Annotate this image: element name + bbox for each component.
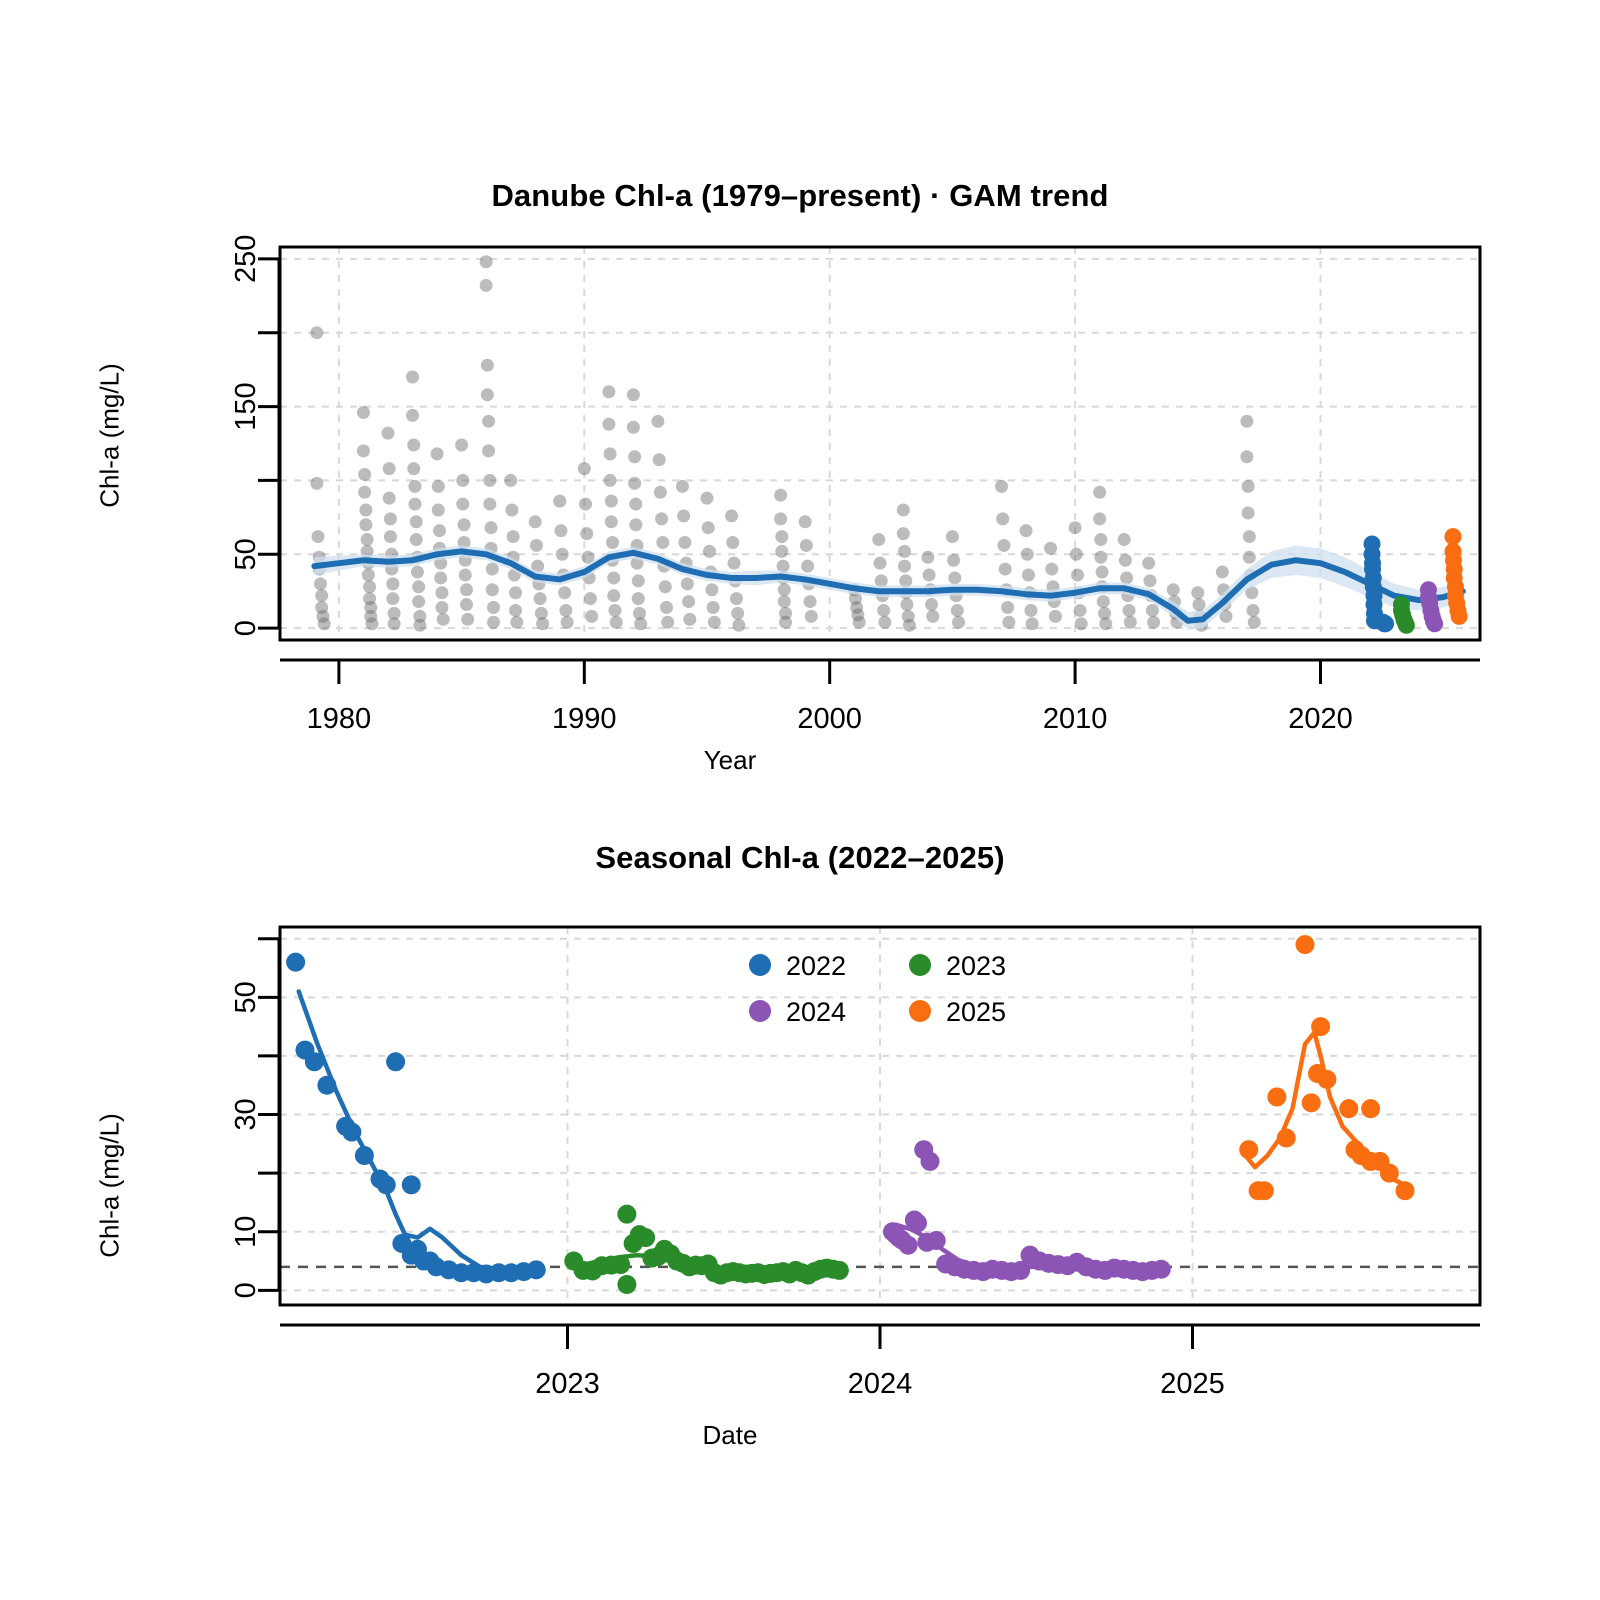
data-point bbox=[483, 498, 496, 511]
data-point bbox=[997, 539, 1010, 552]
data-point bbox=[310, 477, 323, 490]
data-point bbox=[312, 530, 325, 543]
data-point bbox=[1339, 1099, 1358, 1118]
data-point bbox=[1248, 616, 1261, 629]
data-point bbox=[921, 551, 934, 564]
data-point bbox=[632, 592, 645, 605]
data-point bbox=[900, 598, 913, 611]
data-point bbox=[703, 545, 716, 558]
data-point bbox=[878, 616, 891, 629]
data-point bbox=[580, 527, 593, 540]
data-point bbox=[799, 515, 812, 528]
series-points-2025-recent bbox=[1445, 528, 1468, 625]
data-point bbox=[362, 568, 375, 581]
data-point bbox=[604, 474, 617, 487]
data-point bbox=[732, 619, 745, 632]
legend-label-2024: 2024 bbox=[786, 997, 846, 1027]
data-point bbox=[996, 512, 1009, 525]
data-point bbox=[779, 616, 792, 629]
data-point bbox=[384, 530, 397, 543]
data-point bbox=[608, 604, 621, 617]
data-point bbox=[661, 616, 674, 629]
data-point bbox=[1451, 608, 1468, 625]
data-point bbox=[1167, 583, 1180, 596]
data-point bbox=[1124, 616, 1137, 629]
data-point bbox=[1142, 557, 1155, 570]
data-point bbox=[1099, 617, 1112, 630]
data-point bbox=[579, 498, 592, 511]
data-point bbox=[1247, 604, 1260, 617]
data-point bbox=[1070, 548, 1083, 561]
data-point bbox=[386, 1052, 405, 1071]
data-point bbox=[1398, 617, 1415, 634]
data-point bbox=[678, 536, 691, 549]
data-point bbox=[435, 586, 448, 599]
data-point bbox=[708, 616, 721, 629]
y-tick-label: 250 bbox=[230, 235, 262, 283]
data-point bbox=[1044, 542, 1057, 555]
y-tick-label: 0 bbox=[230, 620, 262, 636]
data-point bbox=[408, 480, 421, 493]
data-point bbox=[388, 617, 401, 630]
data-point bbox=[437, 613, 450, 626]
data-point bbox=[1147, 616, 1160, 629]
data-point bbox=[1071, 568, 1084, 581]
data-point bbox=[315, 589, 328, 602]
data-point bbox=[363, 580, 376, 593]
data-point bbox=[1377, 615, 1394, 632]
data-point bbox=[509, 586, 522, 599]
data-point bbox=[731, 607, 744, 620]
data-point bbox=[629, 498, 642, 511]
data-point bbox=[627, 388, 640, 401]
data-point bbox=[1255, 1181, 1274, 1200]
data-point bbox=[483, 474, 496, 487]
data-point bbox=[1049, 610, 1062, 623]
data-point bbox=[1069, 521, 1082, 534]
data-point bbox=[778, 583, 791, 596]
legend-label-2023: 2023 bbox=[946, 951, 1006, 981]
panel-gam-trend: Danube Chl-a (1979–present) · GAM trend … bbox=[0, 0, 1600, 800]
data-point bbox=[480, 255, 493, 268]
data-point bbox=[707, 601, 720, 614]
data-point bbox=[617, 1275, 636, 1294]
x-tick-label: 2025 bbox=[1160, 1368, 1225, 1400]
series-points-2024 bbox=[883, 1140, 1171, 1281]
data-point bbox=[1022, 568, 1035, 581]
data-point bbox=[1024, 604, 1037, 617]
data-point bbox=[458, 518, 471, 531]
data-point bbox=[628, 477, 641, 490]
data-point bbox=[504, 474, 517, 487]
data-point bbox=[359, 503, 372, 516]
data-point bbox=[951, 604, 964, 617]
data-point bbox=[460, 598, 473, 611]
data-point bbox=[1361, 1099, 1380, 1118]
data-point bbox=[681, 577, 694, 590]
data-point bbox=[384, 512, 397, 525]
data-point bbox=[605, 515, 618, 528]
data-point bbox=[486, 583, 499, 596]
data-point bbox=[1296, 935, 1315, 954]
data-point bbox=[874, 557, 887, 570]
data-point bbox=[1119, 554, 1132, 567]
data-point bbox=[634, 617, 647, 630]
y-tick-label: 30 bbox=[230, 1098, 262, 1130]
data-point bbox=[411, 566, 424, 579]
legend-label-2025: 2025 bbox=[946, 997, 1006, 1027]
data-point bbox=[1123, 604, 1136, 617]
data-point bbox=[897, 503, 910, 516]
data-point bbox=[903, 619, 916, 632]
data-point bbox=[948, 571, 961, 584]
data-point bbox=[656, 536, 669, 549]
data-point bbox=[1445, 528, 1462, 545]
legend-marker-2025 bbox=[909, 1000, 931, 1022]
data-point bbox=[1002, 616, 1015, 629]
data-point bbox=[480, 279, 493, 292]
y-tick-label: 50 bbox=[230, 981, 262, 1013]
data-point bbox=[314, 577, 327, 590]
plot-area-bottom: 01030502023202420252022202320242025 bbox=[0, 800, 1600, 1600]
x-tick-label: 2020 bbox=[1288, 703, 1353, 735]
y-tick-label: 10 bbox=[230, 1216, 262, 1248]
data-point bbox=[705, 583, 718, 596]
data-point bbox=[553, 495, 566, 508]
data-point bbox=[359, 518, 372, 531]
data-point bbox=[1143, 574, 1156, 587]
data-point bbox=[381, 427, 394, 440]
data-point bbox=[607, 571, 620, 584]
data-point bbox=[683, 613, 696, 626]
y-tick-label: 0 bbox=[230, 1282, 262, 1298]
data-point bbox=[605, 495, 618, 508]
data-point bbox=[554, 524, 567, 537]
data-point bbox=[725, 509, 738, 522]
data-point bbox=[383, 462, 396, 475]
data-point bbox=[898, 545, 911, 558]
data-point bbox=[682, 595, 695, 608]
data-point bbox=[774, 512, 787, 525]
legend: 2022202320242025 bbox=[749, 951, 1006, 1027]
data-point bbox=[530, 539, 543, 552]
data-point bbox=[1074, 604, 1087, 617]
data-point bbox=[775, 530, 788, 543]
data-point bbox=[1020, 524, 1033, 537]
y-tick-label: 50 bbox=[230, 538, 262, 570]
data-point bbox=[653, 453, 666, 466]
data-point bbox=[947, 554, 960, 567]
panel-seasonal: Seasonal Chl-a (2022–2025) Chl-a (mg/L) … bbox=[0, 800, 1600, 1600]
data-point bbox=[410, 515, 423, 528]
data-point bbox=[628, 450, 641, 463]
data-point bbox=[775, 545, 788, 558]
data-point bbox=[1094, 551, 1107, 564]
data-point bbox=[460, 583, 473, 596]
data-point bbox=[435, 601, 448, 614]
data-point bbox=[487, 601, 500, 614]
data-point bbox=[1191, 586, 1204, 599]
data-point bbox=[406, 371, 419, 384]
data-point bbox=[801, 560, 814, 573]
data-point bbox=[654, 486, 667, 499]
data-point bbox=[410, 533, 423, 546]
data-point bbox=[431, 447, 444, 460]
legend-label-2022: 2022 bbox=[786, 951, 846, 981]
data-point bbox=[898, 560, 911, 573]
series-points-2023 bbox=[564, 1205, 849, 1294]
data-point bbox=[1146, 604, 1159, 617]
data-point bbox=[774, 489, 787, 502]
data-point bbox=[727, 557, 740, 570]
data-point bbox=[610, 616, 623, 629]
data-point bbox=[800, 539, 813, 552]
data-point bbox=[1045, 563, 1058, 576]
data-point bbox=[1242, 480, 1255, 493]
legend-marker-2023 bbox=[909, 954, 931, 976]
data-point bbox=[805, 610, 818, 623]
data-point bbox=[1242, 506, 1255, 519]
data-point bbox=[1097, 595, 1110, 608]
data-point bbox=[1426, 615, 1443, 632]
data-point bbox=[925, 598, 938, 611]
data-point bbox=[921, 1152, 940, 1171]
data-point bbox=[1243, 551, 1256, 564]
data-point bbox=[461, 613, 474, 626]
data-point bbox=[1216, 566, 1229, 579]
trend-line bbox=[299, 991, 537, 1270]
data-point bbox=[402, 1175, 421, 1194]
data-point bbox=[432, 503, 445, 516]
data-point bbox=[584, 592, 597, 605]
data-point bbox=[1193, 598, 1206, 611]
data-point bbox=[778, 595, 791, 608]
data-point bbox=[559, 604, 572, 617]
data-point bbox=[926, 610, 939, 623]
data-point bbox=[602, 385, 615, 398]
data-point bbox=[386, 577, 399, 590]
data-point bbox=[632, 574, 645, 587]
data-point bbox=[606, 536, 619, 549]
data-point bbox=[677, 509, 690, 522]
x-tick-label: 2023 bbox=[535, 1368, 600, 1400]
data-point bbox=[408, 498, 421, 511]
data-point bbox=[406, 409, 419, 422]
data-point bbox=[455, 438, 468, 451]
data-point bbox=[604, 447, 617, 460]
data-point bbox=[726, 536, 739, 549]
figure-root: Danube Chl-a (1979–present) · GAM trend … bbox=[0, 0, 1600, 1600]
data-point bbox=[730, 592, 743, 605]
data-point bbox=[617, 1205, 636, 1224]
data-point bbox=[534, 592, 547, 605]
data-point bbox=[529, 515, 542, 528]
data-point bbox=[413, 619, 426, 632]
y-tick-label: 150 bbox=[230, 382, 262, 430]
data-point bbox=[358, 486, 371, 499]
data-point bbox=[1094, 533, 1107, 546]
data-point bbox=[877, 604, 890, 617]
data-point bbox=[361, 533, 374, 546]
data-point bbox=[607, 589, 620, 602]
data-point bbox=[1240, 415, 1253, 428]
data-point bbox=[318, 617, 331, 630]
x-tick-label: 1990 bbox=[552, 703, 617, 735]
data-point bbox=[357, 444, 370, 457]
data-point bbox=[536, 617, 549, 630]
data-point bbox=[1118, 533, 1131, 546]
data-point bbox=[1240, 450, 1253, 463]
legend-marker-2024 bbox=[749, 1000, 771, 1022]
data-point bbox=[505, 503, 518, 516]
data-point bbox=[946, 530, 959, 543]
data-point bbox=[481, 359, 494, 372]
data-point bbox=[558, 586, 571, 599]
data-point bbox=[456, 474, 469, 487]
data-point bbox=[660, 601, 673, 614]
data-point bbox=[407, 438, 420, 451]
series-points-2022 bbox=[286, 953, 546, 1284]
data-point bbox=[804, 595, 817, 608]
data-point bbox=[897, 527, 910, 540]
data-point bbox=[509, 604, 522, 617]
data-point bbox=[486, 563, 499, 576]
data-point bbox=[1001, 601, 1014, 614]
data-point bbox=[1302, 1093, 1321, 1112]
x-tick-label: 1980 bbox=[307, 703, 372, 735]
data-point bbox=[1075, 617, 1088, 630]
data-point bbox=[412, 580, 425, 593]
data-point bbox=[655, 512, 668, 525]
data-point bbox=[899, 1236, 918, 1255]
data-point bbox=[459, 568, 472, 581]
data-point bbox=[602, 418, 615, 431]
data-point bbox=[507, 530, 520, 543]
data-point bbox=[1096, 566, 1109, 579]
data-point bbox=[1243, 530, 1256, 543]
data-point bbox=[627, 421, 640, 434]
data-point bbox=[383, 492, 396, 505]
data-point bbox=[853, 616, 866, 629]
x-tick-label: 2000 bbox=[797, 703, 862, 735]
data-point bbox=[700, 492, 713, 505]
data-point bbox=[561, 616, 574, 629]
data-point bbox=[999, 563, 1012, 576]
data-point bbox=[407, 462, 420, 475]
data-point bbox=[676, 480, 689, 493]
data-point bbox=[995, 480, 1008, 493]
data-point bbox=[510, 616, 523, 629]
x-tick-label: 2010 bbox=[1043, 703, 1108, 735]
data-point bbox=[366, 617, 379, 630]
data-point bbox=[434, 571, 447, 584]
data-point bbox=[1093, 512, 1106, 525]
data-point bbox=[636, 1228, 655, 1247]
data-point bbox=[1026, 617, 1039, 630]
data-point bbox=[433, 524, 446, 537]
data-point bbox=[358, 468, 371, 481]
data-point bbox=[1021, 548, 1034, 561]
data-point bbox=[482, 415, 495, 428]
data-point bbox=[432, 480, 445, 493]
data-point bbox=[651, 415, 664, 428]
x-tick-label: 2024 bbox=[848, 1368, 913, 1400]
data-point bbox=[482, 444, 495, 457]
data-point bbox=[923, 568, 936, 581]
data-point bbox=[485, 521, 498, 534]
data-point bbox=[1093, 486, 1106, 499]
data-point bbox=[357, 406, 370, 419]
legend-marker-2022 bbox=[749, 954, 771, 976]
data-point bbox=[556, 548, 569, 561]
data-point bbox=[629, 518, 642, 531]
gridlines bbox=[280, 927, 1480, 1305]
data-point bbox=[310, 326, 323, 339]
data-point bbox=[585, 610, 598, 623]
plot-area-top: 05015025019801990200020102020 bbox=[0, 0, 1600, 800]
data-point bbox=[412, 595, 425, 608]
data-point bbox=[487, 616, 500, 629]
data-point bbox=[702, 521, 715, 534]
data-point bbox=[659, 580, 672, 593]
data-point bbox=[286, 953, 305, 972]
data-point bbox=[386, 592, 399, 605]
data-point bbox=[481, 388, 494, 401]
data-point bbox=[952, 616, 965, 629]
data-point bbox=[872, 533, 885, 546]
data-point bbox=[578, 462, 591, 475]
data-point bbox=[456, 498, 469, 511]
data-point bbox=[1267, 1087, 1286, 1106]
